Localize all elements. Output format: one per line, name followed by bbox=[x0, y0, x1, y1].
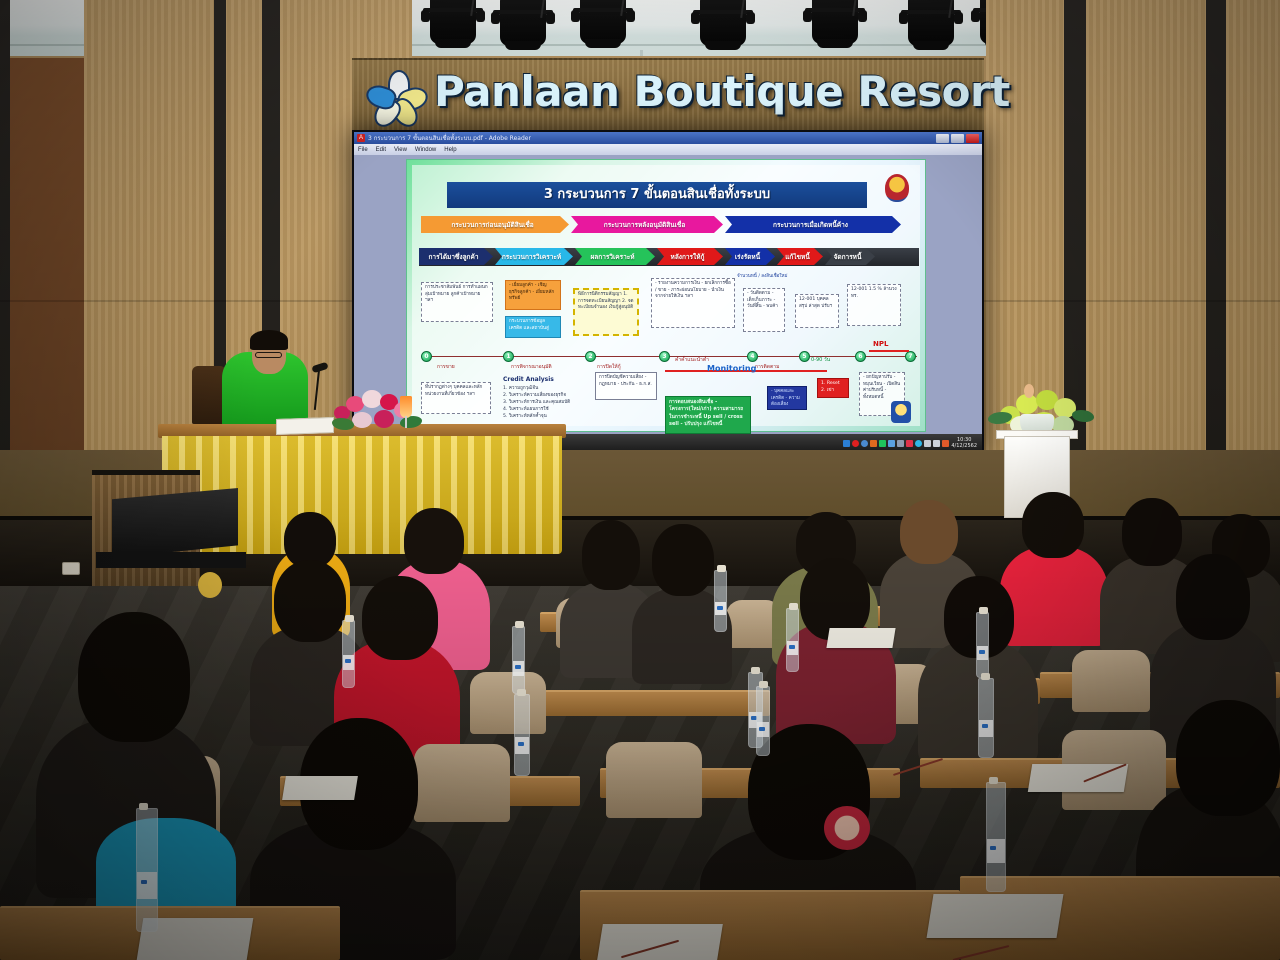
attendee-head bbox=[362, 576, 438, 660]
days-label: 0-90 วัน bbox=[811, 356, 830, 364]
flow-box-3: - รายงานความการเงิน - ยกเลิกการซื้อ / ขา… bbox=[651, 278, 735, 328]
government-seal-icon bbox=[885, 174, 909, 202]
stage-spotlight-icon bbox=[580, 0, 626, 44]
stage-spotlight-icon bbox=[500, 0, 546, 46]
security-icon[interactable] bbox=[915, 440, 922, 447]
handout-paper bbox=[597, 924, 723, 960]
audience-chair bbox=[606, 742, 702, 818]
adobe-reader-icon: A bbox=[357, 134, 365, 142]
sync-icon[interactable] bbox=[897, 440, 904, 447]
node-3: 3 bbox=[659, 351, 670, 362]
stage-spotlight-icon bbox=[812, 0, 858, 44]
menubar[interactable]: File Edit View Window Help bbox=[354, 144, 982, 155]
water-bottle bbox=[714, 570, 727, 632]
npl-arrow bbox=[869, 350, 909, 352]
handout-paper bbox=[282, 776, 358, 800]
flower-hair-ornament-icon bbox=[824, 806, 870, 850]
slide-title: 3 กระบวนการ 7 ขั้นตอนสินเชื่อทั้งระบบ bbox=[447, 182, 867, 208]
pinwheel-flower-logo bbox=[372, 72, 428, 124]
step-acquire-customer: การได้มาซึ่งลูกค้า bbox=[419, 248, 493, 265]
step-band: การได้มาซึ่งลูกค้า กระบวนการวิเคราะห์ ผล… bbox=[419, 248, 875, 265]
system-tray[interactable]: 10:30 4/12/2562 bbox=[843, 437, 979, 450]
resort-name-text: Panlaan Boutique Resort bbox=[434, 67, 1010, 116]
step-analysis: กระบวนการวิเคราะห์ bbox=[495, 248, 573, 265]
presenter-glasses bbox=[255, 352, 282, 358]
projection-screen: A 3 กระบวนการ 7 ขั้นตอนสินเชื่อทั้งระบบ.… bbox=[352, 130, 984, 460]
presenter-hair bbox=[250, 330, 288, 350]
step-fix-debt: แก้ไขหนี้ bbox=[777, 248, 823, 265]
window-controls[interactable] bbox=[936, 134, 979, 143]
menu-view[interactable]: View bbox=[394, 147, 407, 153]
node-label-0: การขาย bbox=[437, 363, 455, 371]
window-title: 3 กระบวนการ 7 ขั้นตอนสินเชื่อทั้งระบบ.pd… bbox=[368, 133, 933, 143]
presentation-slide: 3 กระบวนการ 7 ขั้นตอนสินเชื่อทั้งระบบ กร… bbox=[406, 159, 926, 432]
menu-window[interactable]: Window bbox=[415, 147, 436, 153]
menu-edit[interactable]: Edit bbox=[376, 147, 386, 153]
flow-box-8: การปิดบัญชีความเสี่ยง - กฎหมาย - ประกัน … bbox=[595, 372, 657, 400]
flow-box-10: - บุคคลและเครดิต - ความต้องเสี่ยง bbox=[767, 386, 807, 410]
monitoring-label: Monitoring bbox=[707, 364, 756, 373]
node-7: 7 bbox=[905, 351, 916, 362]
node-6: 6 bbox=[855, 351, 866, 362]
speaker-base bbox=[96, 552, 246, 568]
attendee-head bbox=[1122, 498, 1182, 566]
wall-power-outlet bbox=[62, 562, 80, 575]
network-icon[interactable] bbox=[879, 440, 886, 447]
credit-analysis-title: Credit Analysis bbox=[503, 376, 554, 383]
credit-analysis-item-5: 5. วิเคราะห์หลักค้ำจุน bbox=[503, 414, 613, 421]
update-icon[interactable] bbox=[942, 440, 949, 447]
node-1: 1 bbox=[503, 351, 514, 362]
chevron-post-approval: กระบวนการหลังอนุมัติสินเชื่อ bbox=[571, 216, 723, 233]
process-band: กระบวนการก่อนอนุมัติสินเชื่อ กระบวนการหล… bbox=[421, 216, 901, 233]
step-manage-debt: จัดการหนี้ bbox=[825, 248, 875, 265]
npl-label: NPL bbox=[873, 340, 888, 348]
water-bottle bbox=[514, 694, 530, 776]
pdf-document-area[interactable]: 3 กระบวนการ 7 ขั้นตอนสินเชื่อทั้งระบบ กร… bbox=[354, 155, 982, 452]
node-label-2: การปิดให้กู้ bbox=[597, 363, 621, 371]
menu-help[interactable]: Help bbox=[444, 147, 456, 153]
hair-clip-icon bbox=[198, 572, 222, 598]
credit-analysis-item-3: 3. วิเคราะห์การเงิน และคุณสมบัติ bbox=[503, 400, 613, 407]
chevron-pre-approval: กระบวนการก่อนอนุมัติสินเชื่อ bbox=[421, 216, 569, 233]
water-bottle bbox=[986, 782, 1006, 892]
water-bottle bbox=[342, 620, 355, 688]
antivirus-icon[interactable] bbox=[870, 440, 877, 447]
water-bottle bbox=[978, 678, 994, 758]
drink-straw bbox=[405, 416, 407, 428]
audience-chair bbox=[470, 672, 546, 734]
node-0: 0 bbox=[421, 351, 432, 362]
attendee-head bbox=[1022, 492, 1084, 558]
step-analysis-result: ผลการวิเคราะห์ bbox=[575, 248, 655, 265]
stage-spotlight-icon bbox=[908, 0, 954, 46]
node-label-1: การพิจารณาอนุมัติ bbox=[511, 363, 552, 371]
crimson-shirt-attendee bbox=[1000, 546, 1108, 646]
chrome-icon[interactable] bbox=[861, 440, 868, 447]
flow-box-9: การตอบสนองสินเชื่อ - โครงการ(ใหม่/เก่า) … bbox=[665, 396, 751, 434]
opera-icon[interactable] bbox=[852, 440, 859, 447]
attendee-head bbox=[78, 612, 190, 742]
water-bottle bbox=[756, 686, 770, 756]
resort-sign: Panlaan Boutique Resort bbox=[352, 58, 984, 136]
chevron-overdue: กระบวนการเมื่อเกิดหนี้ค้าง bbox=[725, 216, 901, 233]
conference-room-photo: Panlaan Boutique Resort A 3 กระบวนการ 7 … bbox=[0, 0, 1280, 960]
name-placard bbox=[276, 417, 334, 435]
water-bottle bbox=[512, 626, 525, 694]
battery-icon[interactable] bbox=[924, 440, 931, 447]
attendee-head bbox=[582, 520, 640, 590]
attendee-head bbox=[404, 508, 464, 574]
adobe-reader-window[interactable]: A 3 กระบวนการ 7 ขั้นตอนสินเชื่อทั้งระบบ.… bbox=[354, 132, 982, 452]
maximize-button[interactable] bbox=[951, 134, 964, 143]
menu-file[interactable]: File bbox=[358, 147, 368, 153]
audience-chair bbox=[1072, 650, 1150, 712]
flow-box-5: 12-001 บุคคลสรุป ล่าสุด ปรับฯ bbox=[795, 294, 839, 328]
node-2: 2 bbox=[585, 351, 596, 362]
step-after-loan: หลังการให้กู้ bbox=[657, 248, 723, 265]
flow-box-0: การประชาสัมพันธ์ การทำแผนกลุ่มเป้าหมาย ล… bbox=[421, 282, 493, 322]
attendee-head bbox=[274, 560, 346, 642]
stage-spotlight-icon bbox=[700, 0, 746, 46]
top-note: จำนวนหนี้ / ลงสินเชื่อใหม่ bbox=[737, 272, 787, 279]
flow-box-2: พิธีการนิติกรรมสัญญา 1. การจดทะเบียนสัญญ… bbox=[573, 288, 639, 336]
usb-icon[interactable] bbox=[888, 440, 895, 447]
flow-box-4: - วันติดตาม - เด็กเก็บภาระ - วันที่สิ้น … bbox=[743, 288, 785, 332]
clock-date: 4/12/2562 bbox=[951, 443, 977, 449]
attendee-head bbox=[1176, 554, 1250, 640]
water-bottle bbox=[786, 608, 799, 672]
stage-spotlight-icon bbox=[430, 0, 476, 44]
flow-box-7: ที่ปรากฏต่างๆ บุคคลและหลัก หน่วยงานที่เก… bbox=[421, 382, 491, 414]
handout-paper bbox=[826, 628, 895, 648]
flow-box-1: - เยี่ยมลูกค้า - เชิญธุรกิจลูกค้า - เยี่… bbox=[505, 280, 561, 310]
minimize-button[interactable] bbox=[936, 134, 949, 143]
credit-analysis-item-4: 4. วิเคราะห์แผนการใช้ bbox=[503, 407, 613, 414]
water-bottle bbox=[976, 612, 989, 678]
organization-emblem-icon bbox=[891, 401, 911, 423]
attendee-head bbox=[1176, 700, 1280, 816]
close-button[interactable] bbox=[966, 134, 979, 143]
node-4: 4 bbox=[747, 351, 758, 362]
shield-icon[interactable] bbox=[906, 440, 913, 447]
attendee-head bbox=[652, 524, 714, 596]
window-titlebar[interactable]: A 3 กระบวนการ 7 ขั้นตอนสินเชื่อทั้งระบบ.… bbox=[354, 132, 982, 144]
node-5: 5 bbox=[799, 351, 810, 362]
water-bottle bbox=[136, 808, 158, 932]
taskbar-clock[interactable]: 10:30 4/12/2562 bbox=[951, 437, 977, 450]
attendee-head bbox=[900, 500, 958, 564]
speaker-icon[interactable] bbox=[933, 440, 940, 447]
flow-box-6: 12-001 1.5 % ล้านวง ทร. bbox=[847, 284, 901, 326]
step-collect-debt: เร่งรัดหนี้ bbox=[725, 248, 775, 265]
audience-table bbox=[520, 690, 770, 716]
flow-box-1b: กระบวนการข้อมูล เครดิต และสถาบันสู่ bbox=[505, 316, 561, 338]
presenter-chair bbox=[192, 366, 226, 424]
bluetooth-icon[interactable] bbox=[843, 440, 850, 447]
audience-chair bbox=[414, 744, 510, 822]
handout-paper bbox=[927, 894, 1064, 938]
teal-shirt-attendee bbox=[96, 818, 236, 918]
node-label-3: คำค้ำแนะนำต่ำ bbox=[675, 356, 709, 364]
flow-box-11: 1. Reset 2. เข่า bbox=[817, 378, 849, 398]
orange-beverage-glass bbox=[400, 396, 412, 418]
